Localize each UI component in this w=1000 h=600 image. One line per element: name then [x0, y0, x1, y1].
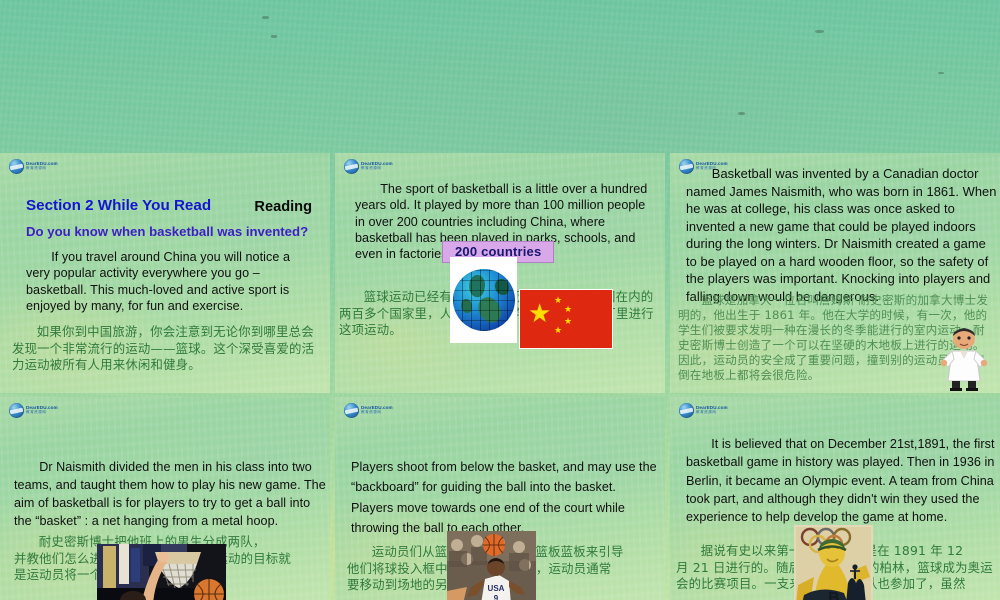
flag-star-small: ★: [564, 305, 572, 314]
svg-text:9: 9: [494, 594, 499, 600]
globe-logo-icon: [679, 159, 694, 174]
globe-logo: DearEDU.com 教育资源网: [344, 159, 393, 174]
slide-1-header: Section 2 While You Read Reading Do you …: [26, 197, 316, 239]
slide-thumbnail-grid: DearEDU.com 教育资源网 Section 2 While You Re…: [0, 153, 1000, 600]
logo-secondary-text: 教育资源网: [361, 411, 393, 415]
background-speck: [271, 35, 277, 38]
flag-star-small: ★: [554, 326, 562, 335]
background-speck: [815, 30, 824, 33]
globe-logo: DearEDU.com 教育资源网: [9, 159, 58, 174]
globe-logo: DearEDU.com 教育资源网: [679, 159, 728, 174]
slide-1-english-text: If you travel around China you will noti…: [26, 249, 311, 314]
slide-3-english-text: Basketball was invented by a Canadian do…: [686, 165, 998, 305]
globe-logo-icon: [344, 403, 359, 418]
slide-4-english-text: Dr Naismith divided the men in his class…: [14, 459, 329, 531]
logo-secondary-text: 教育资源网: [26, 167, 58, 171]
slide-thumbnail-3[interactable]: DearEDU.com 教育资源网 Basketball was invente…: [670, 153, 1000, 393]
usa-basketball-photo: USA 9: [447, 531, 536, 600]
flag-star-small: ★: [564, 317, 572, 326]
slide-thumbnail-6[interactable]: DearEDU.com 教育资源网 It is believed that on…: [670, 397, 1000, 600]
slide-thumbnail-4[interactable]: DearEDU.com 教育资源网 Dr Naismith divided th…: [0, 397, 330, 600]
globe-logo-icon: [9, 403, 24, 418]
slide-thumbnail-1[interactable]: DearEDU.com 教育资源网 Section 2 While You Re…: [0, 153, 330, 393]
section-title: Section 2 While You Read: [26, 197, 211, 214]
globe-logo-icon: [344, 159, 359, 174]
logo-secondary-text: 教育资源网: [696, 411, 728, 415]
globe-icon: [453, 269, 515, 331]
cartoon-doctor-image: [934, 325, 994, 391]
lead-question: Do you know when basketball was invented…: [26, 224, 316, 239]
slide-5-english-text: Players shoot from below the basket, and…: [351, 457, 659, 539]
globe-image: [450, 257, 517, 343]
china-flag-image: ★ ★ ★ ★ ★: [519, 289, 613, 349]
slide-thumbnail-5[interactable]: DearEDU.com 教育资源网 Players shoot from bel…: [335, 397, 665, 600]
background-speck: [738, 112, 745, 115]
background-speck: [938, 72, 944, 74]
globe-logo-icon: [9, 159, 24, 174]
slide-1-chinese-text: 如果你到中国旅游，你会注意到无论你到哪里总会发现一个非常流行的运动——篮球。这个…: [12, 324, 322, 374]
globe-logo: DearEDU.com 教育资源网: [9, 403, 58, 418]
globe-logo: DearEDU.com 教育资源网: [679, 403, 728, 418]
logo-secondary-text: 教育资源网: [361, 167, 393, 171]
reading-label: Reading: [254, 199, 312, 215]
slide-thumbnail-2[interactable]: DearEDU.com 教育资源网 The sport of basketbal…: [335, 153, 665, 393]
globe-logo-icon: [679, 403, 694, 418]
logo-secondary-text: 教育资源网: [26, 411, 58, 415]
flag-star-small: ★: [554, 296, 562, 305]
flag-star-large: ★: [528, 300, 551, 326]
svg-text:USA: USA: [488, 584, 505, 593]
globe-logo: DearEDU.com 教育资源网: [344, 403, 393, 418]
svg-text:B: B: [828, 590, 840, 600]
logo-secondary-text: 教育资源网: [696, 167, 728, 171]
basketball-dunk-photo: [97, 544, 226, 600]
olympic-poster-image: B: [794, 525, 873, 600]
background-speck: [262, 16, 269, 19]
slide-6-english-text: It is believed that on December 21st,189…: [686, 435, 996, 526]
